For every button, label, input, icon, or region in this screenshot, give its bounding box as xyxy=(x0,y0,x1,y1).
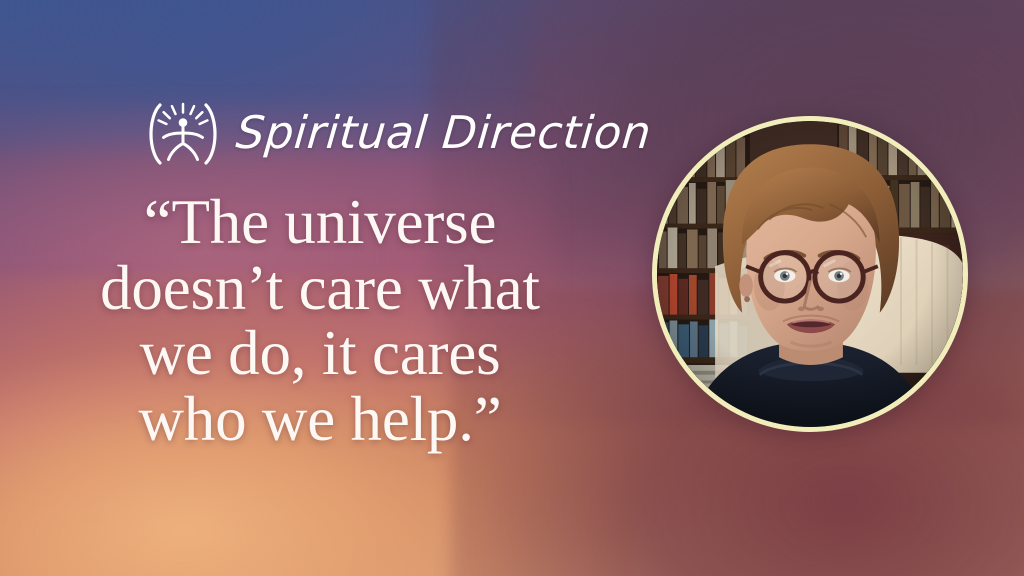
speaker-portrait-avatar xyxy=(652,116,968,432)
portrait-photo xyxy=(657,121,963,427)
quote-line-3: we do, it cares xyxy=(0,321,640,387)
quote-line-1: “The universe xyxy=(0,190,640,256)
brand-name: Spiritual Direction xyxy=(234,110,653,159)
brand-lockup: Spiritual Direction xyxy=(144,99,651,169)
radiating-stick-figure-in-parentheses-icon xyxy=(144,99,222,169)
quote-line-2: doesn’t care what xyxy=(0,256,640,322)
quote-text: “The universe doesn’t care what we do, i… xyxy=(0,190,640,452)
content-layer: Spiritual Direction “The universe doesn’… xyxy=(0,0,1024,576)
quote-card: Spiritual Direction “The universe doesn’… xyxy=(0,0,1024,576)
quote-line-4: who we help.” xyxy=(0,387,640,453)
